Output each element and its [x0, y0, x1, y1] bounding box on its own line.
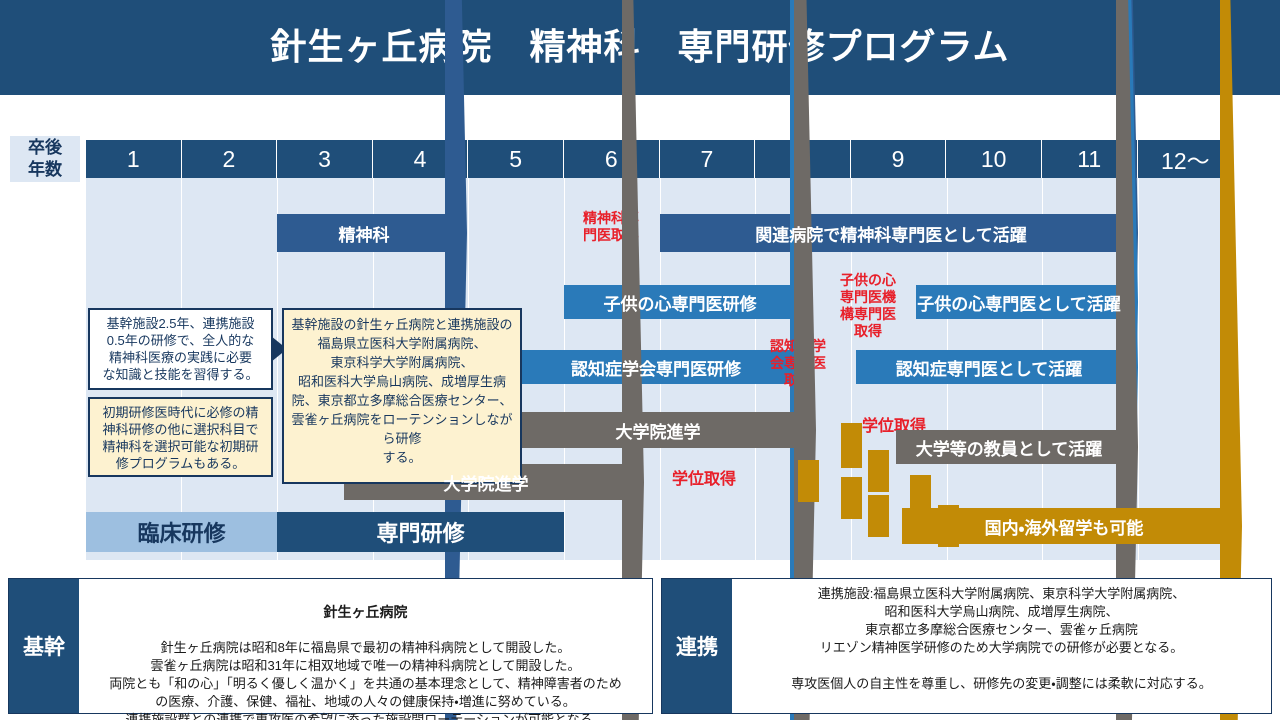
callout-rotation: 基幹施設の針生ヶ丘病院と連携施設の 福島県立医科大学附属病院、 東京科学大学附属…	[282, 308, 522, 484]
arrow-dementia-active[interactable]: 認知症専門医として活躍	[856, 350, 1138, 384]
axis-corner-label-line2: 年数	[28, 159, 62, 181]
arrow-label: 子供の心専門医として活躍	[916, 290, 1138, 315]
arrow-label: 大学院進学	[516, 418, 816, 443]
panel-base-facility: 基幹 針生ヶ丘病院 針生ヶ丘病院は昭和8年に福島県で最初の精神科病院として開設し…	[8, 578, 653, 714]
arrow-dementia-training[interactable]: 認知症学会専門医研修	[516, 350, 812, 384]
arrow-child-training[interactable]: 子供の心専門医研修	[564, 285, 812, 319]
arrow-child-active[interactable]: 子供の心専門医として活躍	[916, 285, 1138, 319]
arrow-label: 大学院進学	[344, 470, 644, 495]
year-cell-10: 10	[946, 140, 1042, 178]
arrow-label: 国内・海外留学も可能	[902, 514, 1242, 539]
axis-corner-label: 卒後 年数	[10, 136, 80, 182]
milestone-child-cert: 子供の心 専門医機 構専門医 取得	[826, 272, 910, 340]
callout-initial-training: 初期研修医時代に必修の精 神科研修の他に選択科目で 精神科を選択可能な初期研 修…	[88, 397, 273, 477]
slide-root: 針生ヶ丘病院 精神科 専門研修プログラム 卒後 年数 1 2 3 4 5 6 7…	[0, 0, 1280, 720]
arrow-label: 認知症学会専門医研修	[516, 355, 812, 380]
year-cell-1: 1	[86, 140, 182, 178]
year-axis-header: 1 2 3 4 5 6 7 8 9 10 11 12〜	[86, 140, 1234, 178]
year-cell-5: 5	[468, 140, 564, 178]
phase-clinical: 臨床研修	[86, 512, 277, 552]
arrow-label: 子供の心専門医研修	[564, 290, 812, 315]
gold-step-block	[868, 495, 889, 537]
arrow-study-abroad[interactable]: 国内・海外留学も可能	[902, 508, 1242, 544]
panel-partner-tag: 連携	[662, 579, 732, 713]
arrow-psychiatry-active[interactable]: 関連病院で精神科専門医として活躍	[660, 214, 1138, 252]
arrow-label: 精神科	[277, 221, 467, 246]
gold-step-block	[798, 460, 819, 502]
milestone-degree-lower: 学位取得	[656, 470, 752, 490]
callout-core-facility: 基幹施設2.5年、連携施設 0.5年の研修で、全人的な 精神科医療の実践に必要 …	[88, 308, 273, 390]
arrow-label: 関連病院で精神科専門医として活躍	[660, 221, 1138, 246]
panel-base-body: 針生ヶ丘病院 針生ヶ丘病院は昭和8年に福島県で最初の精神科病院として開設した。 …	[79, 579, 652, 713]
grid-line	[1138, 140, 1139, 560]
year-cell-3: 3	[277, 140, 373, 178]
panel-partner-body: 連携施設:福島県立医科大学附属病院、東京科学大学附属病院、 昭和医科大学烏山病院…	[732, 579, 1271, 713]
year-cell-9: 9	[851, 140, 947, 178]
year-cell-2: 2	[182, 140, 278, 178]
gold-step-block	[841, 423, 862, 468]
arrow-grad-school-lower[interactable]: 大学院進学	[344, 464, 644, 500]
year-cell-7: 7	[660, 140, 756, 178]
footer-panels: 基幹 針生ヶ丘病院 針生ヶ丘病院は昭和8年に福島県で最初の精神科病院として開設し…	[8, 578, 1272, 714]
arrow-psychiatry[interactable]: 精神科	[277, 214, 467, 252]
year-cell-6: 6	[564, 140, 660, 178]
gold-step-block	[868, 450, 889, 492]
arrow-grad-school-upper[interactable]: 大学院進学	[516, 412, 816, 448]
arrow-label: 大学等の教員として活躍	[896, 435, 1138, 460]
panel-base-text: 針生ヶ丘病院は昭和8年に福島県で最初の精神科病院として開設した。 雲雀ヶ丘病院は…	[109, 640, 621, 720]
arrow-faculty[interactable]: 大学等の教員として活躍	[896, 430, 1138, 464]
axis-corner-label-line1: 卒後	[28, 137, 62, 159]
gold-step-block	[841, 477, 862, 519]
panel-base-tag: 基幹	[9, 579, 79, 713]
panel-base-heading: 針生ヶ丘病院	[87, 603, 644, 621]
year-cell-12: 12〜	[1138, 140, 1234, 178]
phase-specialty: 専門研修	[277, 512, 564, 552]
arrow-label: 認知症専門医として活躍	[856, 355, 1138, 380]
timeline-chart: 1 2 3 4 5 6 7 8 9 10 11 12〜 精神科 精神科専 門医取…	[86, 140, 1234, 560]
panel-partner-facility: 連携 連携施設:福島県立医科大学附属病院、東京科学大学附属病院、 昭和医科大学烏…	[661, 578, 1272, 714]
